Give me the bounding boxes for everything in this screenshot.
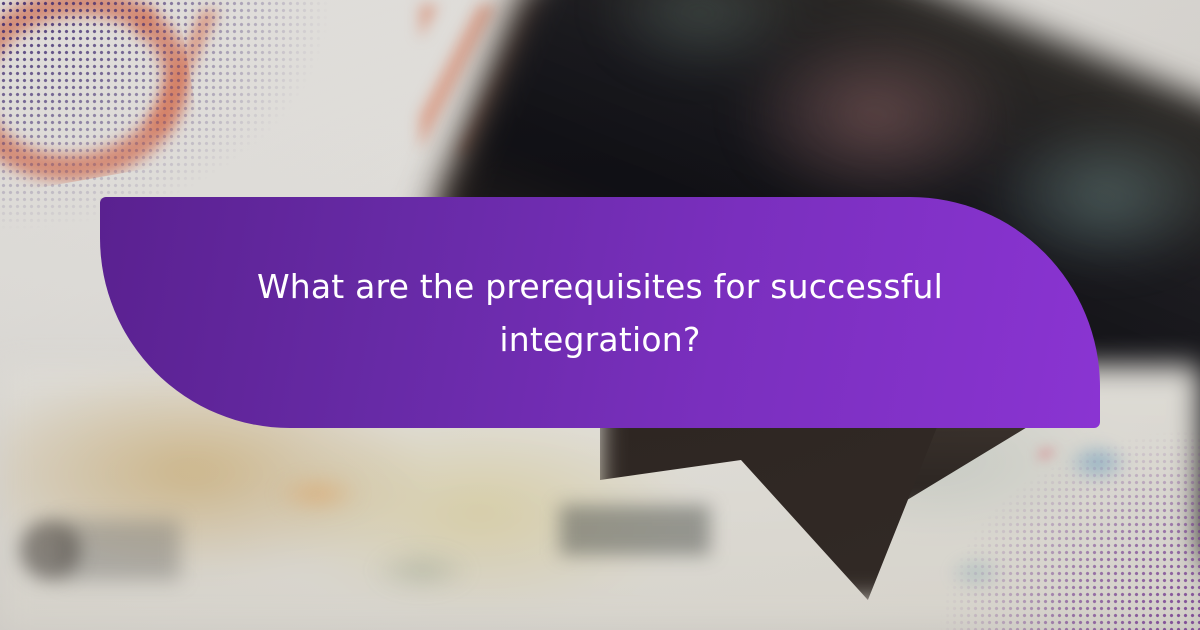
halftone-pattern-top-left [0, 0, 340, 230]
halftone-pattern-bottom-right [930, 430, 1200, 630]
title-banner: What are the prerequisites for successfu… [100, 197, 1100, 428]
page-title: What are the prerequisites for successfu… [200, 260, 1000, 366]
